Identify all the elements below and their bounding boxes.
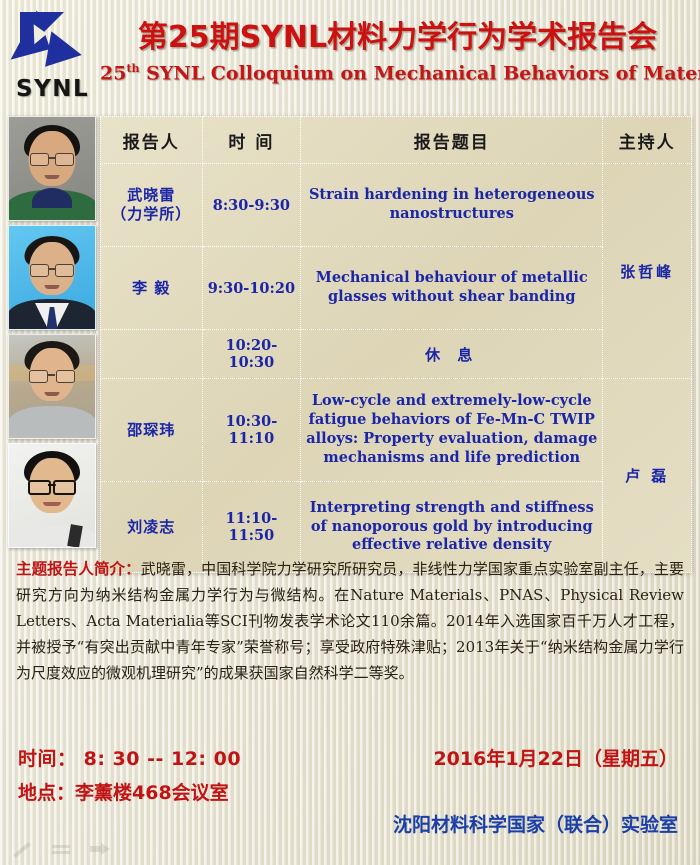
speaker-photo-liu-lingzhi: [8, 443, 96, 548]
speaker-photo-column: [8, 116, 94, 552]
speaker-photo-shao-chenwei: [8, 334, 96, 439]
speaker-biography: 主题报告人简介：武晓雷，中国科学院力学研究所研究员，非线性力学国家重点实验室副主…: [16, 556, 684, 686]
event-time: 时间： 8: 30 -- 12: 00: [18, 744, 241, 771]
cell-time-1: 8:30-9:30: [202, 164, 301, 247]
column-header-speaker: 报告人: [101, 117, 203, 164]
biography-label: 主题报告人简介：: [16, 560, 141, 578]
column-header-talk-title: 报告题目: [301, 117, 603, 164]
organization-name: 沈阳材料科学国家（联合）实验室: [393, 810, 678, 837]
table-row: 邵琛玮 10:30-11:10 Low-cycle and extremely-…: [101, 379, 692, 482]
table-row: 武晓雷 （力学所） 8:30-9:30 Strain hardening in …: [101, 164, 692, 247]
speaker-name-3: 邵琛玮: [104, 421, 199, 440]
title-en-prefix: 25: [100, 62, 126, 84]
watermark-icons: [10, 839, 112, 859]
cell-chair-lu: 卢 磊: [603, 379, 692, 573]
cell-break-label: 休 息: [301, 330, 603, 379]
cell-speaker-3: 邵琛玮: [101, 379, 203, 482]
column-header-time: 时 间: [202, 117, 301, 164]
table-row: 李 毅 9:30-10:20 Mechanical behaviour of m…: [101, 247, 692, 330]
cell-time-3: 10:30-11:10: [202, 379, 301, 482]
cell-title-3: Low-cycle and extremely-low-cycle fatigu…: [301, 379, 603, 482]
pencil-icon: [10, 839, 32, 859]
event-place: 地点：李薰楼468会议室: [18, 778, 229, 805]
cell-speaker-2: 李 毅: [101, 247, 203, 330]
speaker-photo-wu-xiaolei: [8, 116, 96, 221]
speaker-name-4: 刘凌志: [104, 518, 199, 537]
page-title-chinese: 第25期SYNL材料力学行为学术报告会: [100, 12, 695, 56]
poster-root: SYNL 第25期SYNL材料力学行为学术报告会 25th SYNL Collo…: [0, 0, 700, 865]
poster-header: SYNL 第25期SYNL材料力学行为学术报告会 25th SYNL Collo…: [0, 0, 700, 112]
column-header-chair: 主持人: [603, 117, 692, 164]
synl-logo-text: SYNL: [16, 76, 89, 102]
cell-time-2: 9:30-10:20: [202, 247, 301, 330]
event-date: 2016年1月22日（星期五）: [433, 744, 678, 771]
schedule-table: 报告人 时 间 报告题目 主持人 武晓雷 （力学所） 8:30-9:30 Str…: [100, 116, 692, 573]
arrow-right-icon: [90, 839, 112, 859]
cell-title-2: Mechanical behaviour of metallic glasses…: [301, 247, 603, 330]
speaker-photo-li-yi: [8, 225, 96, 330]
table-row-break: 10:20-10:30 休 息: [101, 330, 692, 379]
title-en-rest: SYNL Colloquium on Mechanical Behaviors …: [140, 62, 700, 84]
title-en-ordinal: th: [126, 62, 139, 75]
lines-icon: [50, 839, 72, 859]
cell-title-1: Strain hardening in heterogeneous nanost…: [301, 164, 603, 247]
synl-triangles-logo: [8, 8, 96, 74]
page-title-english: 25th SYNL Colloquium on Mechanical Behav…: [100, 62, 695, 84]
cell-chair-zhang: 张哲峰: [603, 164, 692, 379]
table-header-row: 报告人 时 间 报告题目 主持人: [101, 117, 692, 164]
biography-text: 武晓雷，中国科学院力学研究所研究员，非线性力学国家重点实验室副主任，主要研究方向…: [16, 560, 684, 682]
speaker-name-1: 武晓雷: [104, 186, 199, 205]
cell-speaker-break: [101, 330, 203, 379]
speaker-name-2: 李 毅: [104, 279, 199, 298]
poster-footer: 时间： 8: 30 -- 12: 00 2016年1月22日（星期五） 地点：李…: [0, 740, 700, 840]
cell-speaker-1: 武晓雷 （力学所）: [101, 164, 203, 247]
speaker-affiliation-1: （力学所）: [104, 205, 199, 224]
synl-logo: SYNL: [8, 8, 100, 106]
cell-time-break: 10:20-10:30: [202, 330, 301, 379]
